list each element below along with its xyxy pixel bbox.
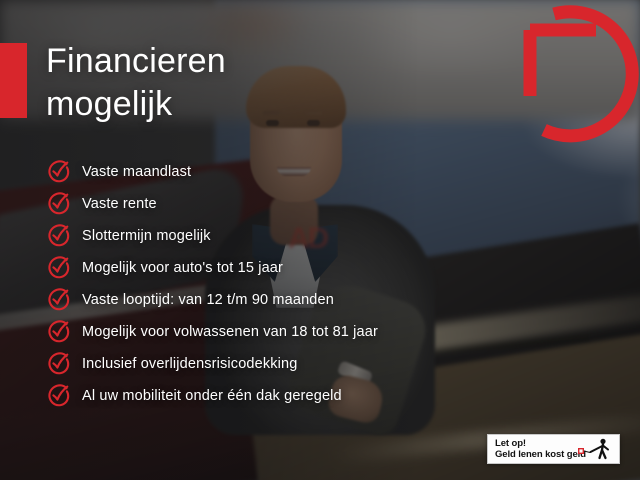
promo-banner: AD Financieren mogelijk Vaste maandlast … xyxy=(0,0,640,480)
list-item: Vaste rente xyxy=(46,188,566,220)
list-item: Inclusief overlijdensrisicodekking xyxy=(46,348,566,380)
feature-checklist: Vaste maandlast Vaste rente Slottermijn … xyxy=(46,156,566,412)
list-item: Slottermijn mogelijk xyxy=(46,220,566,252)
list-item: Vaste maandlast xyxy=(46,156,566,188)
list-item: Mogelijk voor auto's tot 15 jaar xyxy=(46,252,566,284)
check-circle-icon xyxy=(46,255,72,281)
check-circle-icon xyxy=(46,159,72,185)
list-item-label: Vaste looptijd: van 12 t/m 90 maanden xyxy=(82,292,334,308)
circular-arrow-icon xyxy=(510,0,640,143)
red-accent-block xyxy=(0,43,27,118)
warning-badge-text: Let op! Geld lenen kost geld xyxy=(495,438,586,461)
list-item-label: Al uw mobiliteit onder één dak geregeld xyxy=(82,388,342,404)
list-item-label: Mogelijk voor volwassenen van 18 tot 81 … xyxy=(82,324,378,340)
warning-badge-line1: Let op! xyxy=(495,438,586,450)
list-item-label: Vaste rente xyxy=(82,196,157,212)
status-badge: Let op! Geld lenen kost geld xyxy=(487,434,620,464)
check-circle-icon xyxy=(46,319,72,345)
list-item: Vaste looptijd: van 12 t/m 90 maanden xyxy=(46,284,566,316)
walking-person-pulling-box-icon xyxy=(578,438,614,460)
list-item: Mogelijk voor volwassenen van 18 tot 81 … xyxy=(46,316,566,348)
list-item: Al uw mobiliteit onder één dak geregeld xyxy=(46,380,566,412)
check-circle-icon xyxy=(46,287,72,313)
list-item-label: Inclusief overlijdensrisicodekking xyxy=(82,356,297,372)
check-circle-icon xyxy=(46,383,72,409)
list-item-label: Vaste maandlast xyxy=(82,164,191,180)
warning-badge-line2: Geld lenen kost geld xyxy=(495,449,586,461)
check-circle-icon xyxy=(46,191,72,217)
list-item-label: Mogelijk voor auto's tot 15 jaar xyxy=(82,260,283,276)
check-circle-icon xyxy=(46,223,72,249)
page-title: Financieren mogelijk xyxy=(46,40,466,126)
check-circle-icon xyxy=(46,351,72,377)
list-item-label: Slottermijn mogelijk xyxy=(82,228,211,244)
